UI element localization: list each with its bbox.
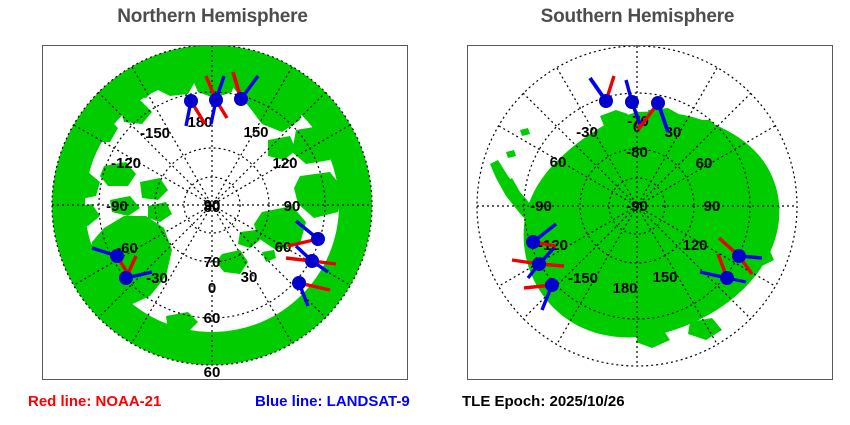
svg-text:0: 0 — [208, 280, 216, 297]
satellite-marker — [625, 95, 639, 109]
svg-text:90: 90 — [284, 198, 301, 215]
svg-text:150: 150 — [652, 269, 677, 286]
svg-text:-90: -90 — [530, 198, 552, 215]
southern-polar-map: -60 -70 -30 0 30 60 60 -90 90 -120 120 -… — [425, 0, 850, 390]
northern-polar-map: 90 180 -150 150 -120 120 -90 90 -60 60 -… — [0, 0, 425, 390]
svg-text:60: 60 — [204, 310, 221, 327]
satellite-marker — [526, 235, 540, 249]
legend-red-line-noaa: Red line: NOAA-21 — [28, 393, 161, 410]
satellite-marker — [651, 96, 665, 110]
svg-text:90: 90 — [704, 198, 721, 215]
satellite-marker — [110, 249, 124, 263]
legend-tle-epoch: TLE Epoch: 2025/10/26 — [462, 393, 625, 410]
svg-text:150: 150 — [243, 124, 268, 141]
svg-text:-120: -120 — [111, 155, 141, 172]
svg-text:-30: -30 — [576, 124, 598, 141]
svg-text:70: 70 — [204, 254, 221, 271]
svg-text:60: 60 — [204, 364, 221, 381]
legend-blue-line-landsat: Blue line: LANDSAT-9 — [255, 393, 410, 410]
svg-text:-90: -90 — [106, 198, 128, 215]
svg-text:80: 80 — [204, 199, 221, 216]
satellite-marker — [292, 276, 306, 290]
svg-text:60: 60 — [550, 154, 567, 171]
satellite-ground-track-figure: Northern Hemisphere — [0, 0, 850, 425]
satellite-marker — [720, 271, 734, 285]
satellite-marker — [209, 93, 223, 107]
svg-text:60: 60 — [696, 155, 713, 172]
svg-text:-80: -80 — [626, 144, 648, 161]
satellite-marker — [545, 278, 559, 292]
svg-text:180: 180 — [612, 280, 637, 297]
satellite-marker — [732, 249, 746, 263]
panel-northern-hemisphere: Northern Hemisphere — [0, 0, 425, 390]
svg-text:-150: -150 — [140, 125, 170, 142]
panel-southern-hemisphere: Southern Hemisphere — [425, 0, 850, 390]
satellite-marker — [234, 92, 248, 106]
svg-text:120: 120 — [272, 155, 297, 172]
satellite-marker — [184, 94, 198, 108]
satellite-marker — [305, 254, 319, 268]
satellite-marker — [119, 271, 133, 285]
svg-text:-60: -60 — [634, 30, 656, 47]
satellite-marker — [311, 232, 325, 246]
satellite-marker — [532, 257, 546, 271]
legend-bar: Red line: NOAA-21 Blue line: LANDSAT-9 T… — [0, 393, 850, 419]
svg-text:120: 120 — [682, 237, 707, 254]
svg-text:-150: -150 — [568, 270, 598, 287]
svg-text:-90: -90 — [626, 198, 648, 215]
satellite-marker — [599, 94, 613, 108]
svg-text:30: 30 — [241, 269, 258, 286]
